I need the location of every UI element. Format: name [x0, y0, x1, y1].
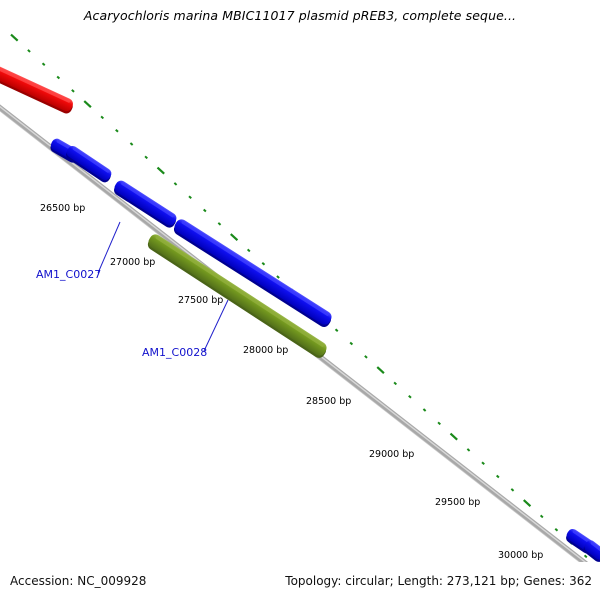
gene-label-am1_c0027[interactable]: AM1_C0027 [36, 268, 101, 281]
tick-label: 27500 bp [178, 295, 223, 306]
tick-mark-major [84, 101, 91, 107]
tick-mark-minor [423, 409, 425, 411]
tick-label: 29500 bp [435, 497, 480, 508]
tick-mark-minor [336, 329, 338, 331]
accession-label: Accession: NC_009928 [10, 574, 146, 588]
tick-mark-minor [438, 422, 440, 424]
tick-mark-minor [145, 156, 147, 158]
tick-mark-minor [394, 382, 396, 384]
tick-mark-minor [409, 396, 411, 398]
tick-mark-minor [218, 223, 220, 225]
title-bar: Acaryochloris marina MBIC11017 plasmid p… [0, 0, 600, 30]
tick-mark-minor [467, 449, 469, 451]
tick-mark-minor [511, 489, 513, 491]
page-title: Acaryochloris marina MBIC11017 plasmid p… [84, 8, 516, 23]
tick-mark-minor [116, 130, 118, 132]
tick-mark-minor [482, 462, 484, 464]
feature-red-top-left[interactable] [0, 54, 75, 115]
sequence-viewer-window: Acaryochloris marina MBIC11017 plasmid p… [0, 0, 600, 600]
gene-label-am1_c0028[interactable]: AM1_C0028 [142, 346, 207, 359]
tick-mark-minor [277, 276, 279, 278]
tick-mark-minor [72, 90, 74, 92]
tick-label: 28500 bp [306, 396, 351, 407]
genome-map-svg[interactable]: 26500 bp27000 bp27500 bp28000 bp28500 bp… [0, 30, 600, 562]
tick-mark-major [451, 434, 458, 440]
tick-mark-minor [585, 555, 587, 557]
tick-mark-minor [101, 116, 103, 118]
tick-mark-minor [248, 249, 250, 251]
tick-mark-minor [57, 77, 59, 79]
tick-mark-major [524, 500, 531, 506]
tick-mark-minor [130, 143, 132, 145]
tick-mark-minor [43, 63, 45, 65]
gene-labels-group[interactable]: AM1_C0027AM1_C0028 [36, 268, 207, 359]
tick-mark-minor [350, 343, 352, 345]
tick-mark-minor [497, 476, 499, 478]
topology-length-genes-label: Topology: circular; Length: 273,121 bp; … [285, 574, 592, 588]
tick-label: 30000 bp [498, 550, 543, 561]
tick-labels-group: 26500 bp27000 bp27500 bp28000 bp28500 bp… [40, 203, 543, 561]
gene-features-group[interactable] [0, 54, 600, 562]
tick-mark-minor [189, 196, 191, 198]
tick-mark-minor [28, 50, 30, 52]
tick-mark-major [158, 168, 165, 174]
label-leader-line [204, 300, 228, 351]
tick-mark-minor [204, 210, 206, 212]
tick-label: 27000 bp [110, 257, 155, 268]
tick-label: 28000 bp [243, 345, 288, 356]
tick-mark-major [231, 234, 238, 240]
status-bar: Accession: NC_009928 Topology: circular;… [0, 562, 600, 600]
tick-mark-minor [262, 263, 264, 265]
genome-map-canvas[interactable]: 26500 bp27000 bp27500 bp28000 bp28500 bp… [0, 30, 600, 562]
tick-mark-major [11, 35, 18, 41]
tick-mark-major [377, 367, 384, 373]
tick-label: 29000 bp [369, 449, 414, 460]
tick-label: 26500 bp [40, 203, 85, 214]
tick-mark-minor [541, 515, 543, 517]
tick-mark-minor [174, 183, 176, 185]
tick-mark-minor [365, 356, 367, 358]
tick-mark-minor [555, 529, 557, 531]
